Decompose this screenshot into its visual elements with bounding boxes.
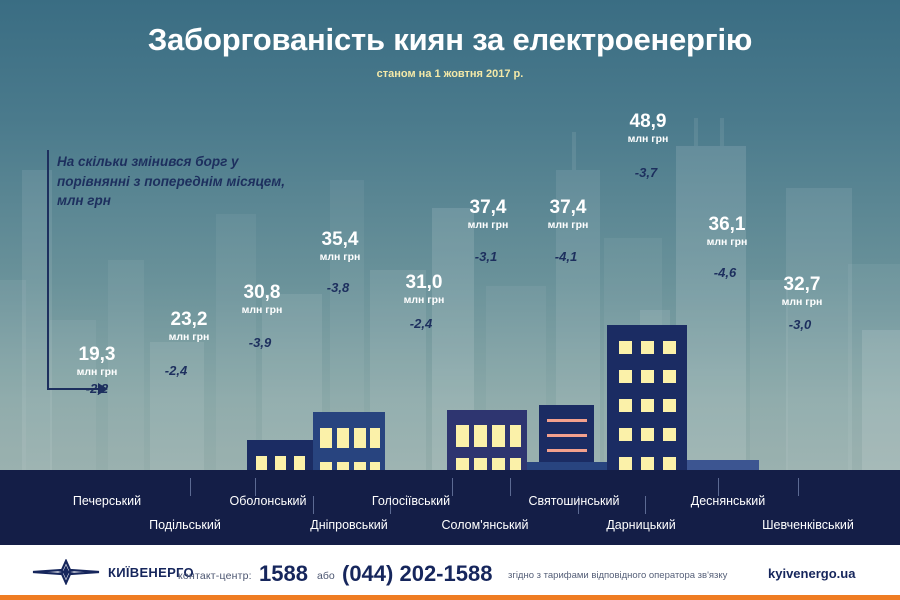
district-label-sviatoshynskyi: Святошинський [504,494,644,508]
contact-or-label: або [317,570,335,582]
bar-value-label: 48,9 млн грн [607,112,689,145]
bar-value-label: 31,0 млн грн [383,273,465,306]
bar-value-label: 32,7 млн грн [761,275,843,308]
bar-delta-label: -2,4 [138,363,214,378]
kyivenergo-logo[interactable]: КИЇВЕНЕРГО [30,559,194,585]
district-label-obolonskyi: Оболонський [203,494,333,508]
bar-delta-label: -2,2 [59,381,135,396]
bar-value-label: 30,8 млн грн [221,283,303,316]
footer-accent-rule [0,595,900,600]
tariff-note: згідно з тарифами відповідного оператора… [508,570,727,581]
contact-center-label: контакт-центр: [178,570,252,582]
page-subtitle: станом на 1 жовтня 2017 р. [0,68,900,80]
bar-value-label: 37,4 млн грн [447,198,529,231]
district-label-solomianskyi: Солом'янський [420,518,550,532]
background-building [150,342,204,470]
district-tick [798,478,799,496]
bar-delta-label: -3,0 [762,317,838,332]
bar-delta-label: -3,9 [222,335,298,350]
bar-delta-label: -3,7 [608,165,684,180]
infographic-root: Заборгованість киян за електроенергію ст… [0,0,900,600]
footer-bar: КИЇВЕНЕРГО контакт-центр: 1588 або (044)… [0,545,900,600]
website-link[interactable]: kyivenergo.ua [768,566,855,581]
district-label-dniprovskyi: Дніпровський [284,518,414,532]
bar-delta-label: -4,6 [687,265,763,280]
bar-value-label: 35,4 млн грн [299,230,381,263]
bar-value-label: 36,1 млн грн [686,215,768,248]
bar-delta-label: -2,4 [383,316,459,331]
bar-delta-label: -3,1 [448,249,524,264]
background-building [750,280,788,470]
district-label-desnianskyi: Деснянський [663,494,793,508]
district-label-podilskyi: Подільський [120,518,250,532]
annotation-rule [47,150,49,390]
district-tick [645,496,646,514]
background-antenna [694,118,698,146]
district-label-strip: Печерський Подільський Оболонський Дніпр… [0,470,900,545]
contact-short-number[interactable]: 1588 [259,561,308,587]
district-label-pecherskyi: Печерський [42,494,172,508]
bar-delta-label: -3,8 [300,280,376,295]
bar-delta-label: -4,1 [528,249,604,264]
district-label-holosiivskyi: Голосіївський [346,494,476,508]
background-antenna [572,132,576,170]
page-title: Заборгованість киян за електроенергію [0,22,900,58]
district-tick [190,478,191,496]
bar-value-label: 37,4 млн грн [527,198,609,231]
contact-phone-number[interactable]: (044) 202-1588 [342,561,492,587]
district-label-shevchenkivskyi: Шевченківський [733,518,883,532]
annotation-text: На скільки змінився борг у порівнянні з … [57,152,297,211]
bar-value-label: 19,3 млн грн [56,345,138,378]
compass-star-icon [30,559,102,585]
bar-value-label: 23,2 млн грн [148,310,230,343]
district-label-darnytskyi: Дарницький [576,518,706,532]
background-antenna [720,118,724,146]
background-building [862,330,900,470]
